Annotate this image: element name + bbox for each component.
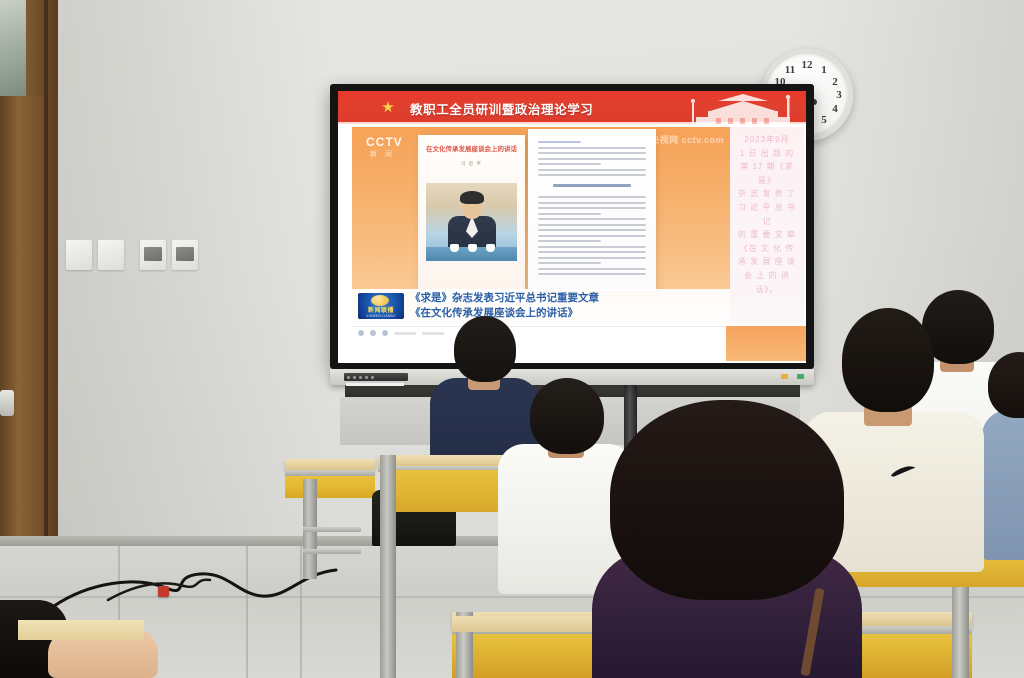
party-emblem-icon: ★ — [380, 100, 396, 115]
desk-row1-left — [285, 459, 375, 579]
side-note-line: 《在 文 化 传 — [734, 242, 800, 256]
door-edge — [44, 0, 48, 600]
side-note-line: 第 17 期《求是》 — [734, 160, 800, 187]
cctv-watermark: 央视网 cctv.com — [650, 133, 724, 146]
home-button-icon[interactable] — [371, 376, 374, 379]
attendee-a6-torso — [982, 410, 1024, 560]
cctv-sub-label: 新 闻 — [370, 149, 395, 159]
side-note-line: 会 上 的 讲 — [734, 269, 800, 283]
attendee-a1-head — [454, 316, 516, 382]
display-screen[interactable]: ★ 教职工全员研训暨政治理论学习 — [338, 91, 806, 363]
magazine-byline: 习 近 平 — [418, 161, 525, 167]
interactive-display[interactable]: ★ 教职工全员研训暨政治理论学习 — [330, 84, 814, 369]
xinwen-lianbo-logo: 新闻联播 XINWEN LIANBO — [358, 293, 404, 319]
toolbar-icon[interactable] — [358, 330, 364, 336]
clock-numeral-11: 11 — [783, 64, 797, 76]
desk-row3-surface-left — [452, 616, 592, 632]
nike-swoosh-icon — [890, 466, 916, 477]
toolbar-icon[interactable] — [370, 330, 376, 336]
classroom-door[interactable] — [0, 0, 58, 600]
attendee-a3 — [592, 400, 862, 678]
slide-side-note: 2023年9月 1 日 出 版 的 第 17 期《求是》 杂 志 发 表 了 习… — [730, 127, 804, 323]
side-note-line: 话》。 — [734, 283, 800, 297]
magazine-article-page — [528, 129, 656, 291]
door-glass-panel — [0, 0, 26, 96]
wall-switch-panel[interactable] — [66, 240, 198, 270]
slide-body: CCTV 新 闻 央视网 cctv.com 在文化传承发展座谈会上的讲话 习 近… — [338, 124, 806, 363]
cctv-logo: CCTV — [366, 135, 403, 149]
status-led-green — [797, 374, 804, 379]
attendee-a6-head — [988, 352, 1024, 418]
photo-cup — [486, 244, 495, 252]
clock-numeral-12: 12 — [800, 59, 814, 71]
side-note-line: 习 近 平 总 书 记 — [734, 201, 800, 228]
volume-button-icon[interactable] — [359, 376, 362, 379]
light-switch-plate-4[interactable] — [172, 240, 198, 270]
attendee-a4-head — [842, 308, 934, 412]
power-button-icon[interactable] — [347, 376, 350, 379]
door-handle[interactable] — [0, 390, 14, 416]
photo-cup — [468, 244, 477, 252]
classroom-scene: 12 1 2 3 4 5 6 7 8 9 10 11 ★ 教职工全员研训暨政治理… — [0, 0, 1024, 678]
slide-header-banner: ★ 教职工全员研训暨政治理论学习 — [338, 91, 806, 124]
magazine-photo — [426, 183, 517, 261]
toolbar-field[interactable] — [394, 332, 416, 335]
side-note-line: 杂 志 发 表 了 — [734, 187, 800, 201]
slide-accent-strip — [726, 326, 806, 361]
magazine-title: 在文化传承发展座谈会上的讲话 — [424, 145, 519, 155]
broadcast-video-frame: CCTV 新 闻 央视网 cctv.com 在文化传承发展座谈会上的讲话 习 近… — [352, 127, 734, 323]
clock-numeral-1: 1 — [817, 64, 831, 76]
presentation-slide: ★ 教职工全员研训暨政治理论学习 — [338, 91, 806, 363]
desk-back-panel — [285, 476, 375, 498]
light-switch-plate-3[interactable] — [140, 240, 166, 270]
ticker-logo-cn: 新闻联播 — [361, 305, 401, 314]
side-note-line: 的 重 要 文 章 — [734, 228, 800, 242]
slide-title: 教职工全员研训暨政治理论学习 — [410, 99, 593, 118]
ticker-logo-en: XINWEN LIANBO — [360, 314, 402, 318]
clock-numeral-2: 2 — [828, 76, 842, 88]
photo-subject-hair — [460, 191, 484, 204]
side-note-line: 承 发 展 座 谈 — [734, 255, 800, 269]
clock-numeral-5: 5 — [817, 114, 831, 126]
magazine-cover: 在文化传承发展座谈会上的讲话 习 近 平 — [418, 135, 525, 303]
display-control-panel[interactable] — [344, 373, 408, 381]
side-note-line: 1 日 出 版 的 — [734, 147, 800, 161]
toolbar-icon[interactable] — [382, 330, 388, 336]
desk-rail — [303, 527, 361, 532]
desk-rail — [303, 549, 361, 554]
side-note-line: 2023年9月 — [734, 133, 800, 147]
door-panel — [0, 96, 46, 600]
light-switch-plate-1[interactable] — [66, 240, 92, 270]
cable-connector — [158, 586, 169, 597]
tiananmen-icon — [688, 91, 798, 124]
source-button-icon[interactable] — [365, 376, 368, 379]
attendee-a6 — [982, 352, 1024, 552]
light-switch-plate-2[interactable] — [98, 240, 124, 270]
status-led-amber — [781, 374, 788, 379]
photo-cup — [450, 244, 459, 252]
desk-row2-frame-left — [380, 455, 396, 678]
clock-numeral-3: 3 — [832, 89, 846, 101]
ticker-line-1: 《求是》杂志发表习近平总书记重要文章 — [410, 291, 730, 306]
news-ticker: 新闻联播 XINWEN LIANBO 《求是》杂志发表习近平总书记重要文章 《在… — [352, 289, 734, 323]
speaker-grille — [346, 383, 404, 386]
desk-bottom-left-surface — [18, 620, 144, 640]
attendee-a3-hair — [610, 400, 844, 600]
menu-button-icon[interactable] — [353, 376, 356, 379]
